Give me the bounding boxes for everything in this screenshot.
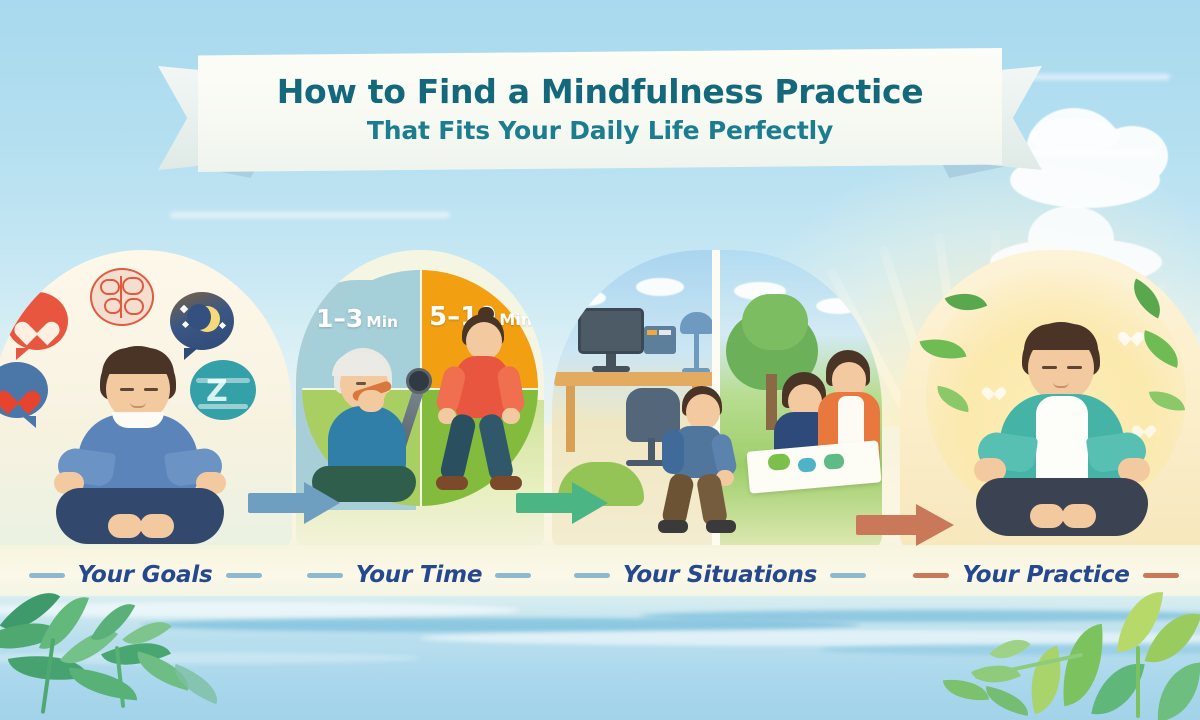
dash-right bbox=[495, 573, 531, 578]
page-subtitle: That Fits Your Daily Life Perfectly bbox=[367, 117, 833, 146]
title-banner: How to Find a Mindfulness Practice That … bbox=[0, 48, 1200, 188]
step-label-text: Your Situations bbox=[623, 562, 817, 588]
foliage-bottom-right bbox=[940, 586, 1200, 720]
dash-left bbox=[307, 573, 343, 578]
bubble-brain bbox=[90, 268, 154, 326]
foliage-bottom-left bbox=[0, 586, 294, 720]
step-panels: Z bbox=[0, 250, 1200, 550]
bubble-moon-stars bbox=[170, 292, 234, 350]
arrow-goals-to-time bbox=[248, 482, 340, 524]
page-title: How to Find a Mindfulness Practice bbox=[277, 74, 924, 110]
walking-person bbox=[438, 314, 522, 504]
bubble-heart-outline bbox=[6, 292, 68, 350]
walking-commuter bbox=[660, 386, 736, 536]
bubble-heart-solid bbox=[0, 362, 48, 418]
step-label-your-goals[interactable]: Your Goals bbox=[0, 552, 290, 598]
dash-left bbox=[913, 573, 949, 578]
step-label-text: Your Practice bbox=[962, 562, 1129, 588]
step-label-your-practice[interactable]: Your Practice bbox=[892, 552, 1200, 598]
dash-right bbox=[226, 573, 262, 578]
arrow-situations-to-practice bbox=[856, 504, 954, 546]
step-labels: Your Goals Your Time Your Situations You… bbox=[0, 552, 1200, 598]
step-label-text: Your Goals bbox=[78, 562, 213, 588]
dash-left bbox=[29, 573, 65, 578]
step-label-text: Your Time bbox=[356, 562, 483, 588]
step-label-your-situations[interactable]: Your Situations bbox=[548, 552, 892, 598]
meditating-person-goals bbox=[50, 346, 230, 546]
dash-right bbox=[830, 573, 866, 578]
arrow-time-to-situations bbox=[516, 482, 608, 524]
dash-left bbox=[574, 573, 610, 578]
meditating-person-practice bbox=[974, 322, 1150, 536]
step-label-your-time[interactable]: Your Time bbox=[290, 552, 548, 598]
wheel-label-1-3-min: 1–3Min bbox=[316, 304, 398, 333]
infographic-canvas: Z bbox=[0, 0, 1200, 720]
banner-panel: How to Find a Mindfulness Practice That … bbox=[198, 48, 1002, 172]
cloud-wisp bbox=[170, 212, 450, 218]
dash-right bbox=[1143, 573, 1179, 578]
